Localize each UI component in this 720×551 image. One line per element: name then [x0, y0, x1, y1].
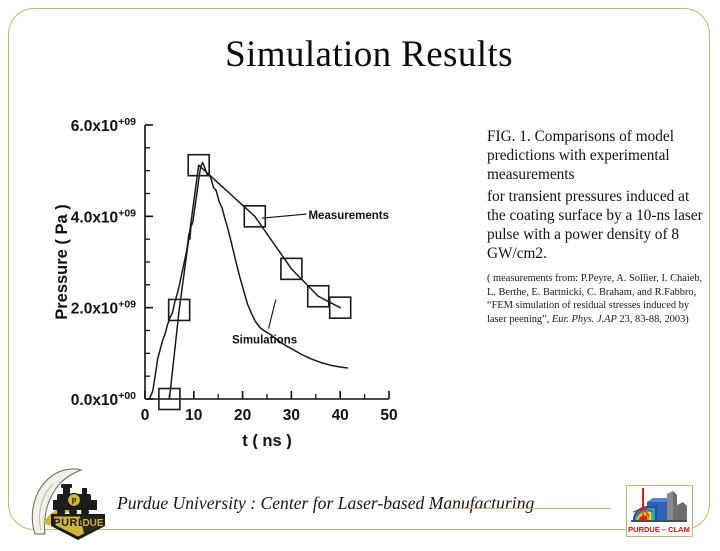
purdue-train-logo: P PURDUE DUE [27, 464, 119, 546]
svg-text:DUE: DUE [82, 518, 103, 529]
annotation-leader-simulations [269, 299, 276, 328]
citation-journal-name: Eur. Phys. J.AP [552, 314, 617, 325]
x-tick-label: 10 [185, 407, 202, 424]
clam-logo-label: PURDUE – CLAM [628, 525, 690, 534]
figure-chart: 010203040500.0x10+002.0x10+094.0x10+096.… [37, 101, 405, 449]
x-axis-label: t ( ns ) [242, 432, 292, 449]
annotation-leader-measurements [262, 214, 307, 218]
x-tick-label: 40 [332, 407, 349, 424]
x-tick-label: 50 [380, 407, 397, 424]
page-title: Simulation Results [9, 33, 720, 76]
x-tick-label: 30 [283, 407, 300, 424]
figure-caption: FIG. 1. Comparisons of model predictions… [487, 127, 709, 263]
citation-text-part-2: 23, 83-88, 2003) [617, 314, 689, 325]
pressure-vs-time-plot: 010203040500.0x10+002.0x10+094.0x10+096.… [37, 101, 405, 449]
y-tick-label: 4.0x10+09 [71, 207, 136, 226]
caption-paragraph-1: FIG. 1. Comparisons of model predictions… [487, 128, 674, 183]
slide-frame: Simulation Results 010203040500.0x10+002… [8, 8, 710, 530]
y-tick-label: 6.0x10+09 [71, 116, 136, 135]
annotation-measurements: Measurements [308, 210, 389, 222]
series-line-simulations [149, 162, 347, 399]
footer-divider-rule [447, 508, 611, 509]
annotation-simulations: Simulations [232, 335, 297, 347]
svg-text:P: P [72, 497, 77, 506]
series-line-measurements [169, 165, 340, 399]
purdue-clam-logo: PURDUE – CLAM [626, 485, 693, 537]
caption-paragraph-2: for transient pressures induced at the c… [487, 187, 709, 264]
x-tick-label: 20 [234, 407, 251, 424]
footer-text: Purdue University : Center for Laser-bas… [117, 493, 534, 514]
x-tick-label: 0 [141, 407, 150, 424]
figure-caption-column: FIG. 1. Comparisons of model predictions… [487, 127, 709, 326]
y-axis-label: Pressure ( Pa ) [53, 204, 71, 320]
y-tick-label: 2.0x10+09 [71, 299, 136, 318]
y-tick-label: 0.0x10+00 [71, 390, 136, 409]
figure-citation: ( measurements from: P.Peyre, A. Sollier… [487, 272, 709, 326]
